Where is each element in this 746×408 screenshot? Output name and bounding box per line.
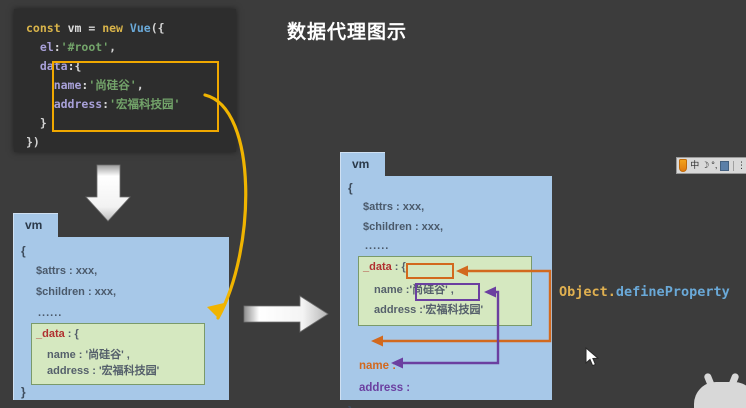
code-token: Vue: [130, 21, 151, 35]
code-line-6: }): [26, 133, 180, 152]
code-token: [26, 97, 54, 111]
code-token: '#root': [61, 40, 109, 54]
left-panel-tab-label: vm: [25, 218, 42, 232]
right-open-brace: {: [348, 181, 353, 195]
logo-watermark: [694, 382, 746, 408]
define-property-label: Object.defineProperty: [559, 284, 730, 300]
code-line-3: name:'尚硅谷',: [26, 76, 180, 95]
code-token: =: [81, 21, 102, 35]
code-token: name: [54, 78, 82, 92]
keyboard-icon[interactable]: [720, 161, 729, 171]
left-line-ellipsis: ......: [38, 307, 62, 319]
left-data-key: _data : {: [36, 328, 79, 340]
left-panel-tab[interactable]: vm: [13, 213, 58, 239]
left-data-address-entry: address : '宏福科技园': [47, 362, 159, 378]
code-token: [26, 40, 40, 54]
code-token: [26, 78, 54, 92]
left-data-key-text: _data: [36, 328, 65, 340]
code-token: address: [54, 97, 102, 111]
left-line-attrs: $attrs : xxx,: [36, 265, 97, 277]
define-property-object: Object: [559, 284, 608, 300]
code-token: ,: [137, 78, 144, 92]
code-token: el: [40, 40, 54, 54]
code-token: :: [54, 40, 61, 54]
right-data-box: _data : { name :'尚硅谷' , address :'宏福科技园': [358, 256, 532, 326]
right-data-address-label: address :: [374, 304, 423, 316]
page-title: 数据代理图示: [287, 17, 407, 44]
right-data-name-label: name :: [374, 284, 409, 296]
right-panel-tab-label: vm: [352, 157, 369, 171]
ime-toolbar[interactable]: 中 ☽ °, ⋮: [676, 157, 746, 174]
code-token: vm: [68, 21, 82, 35]
right-accessor-address: address :: [359, 382, 410, 394]
code-token: [26, 59, 40, 73]
moon-icon[interactable]: ☽: [700, 159, 710, 172]
code-token: :{: [68, 59, 82, 73]
right-line-attrs: $attrs : xxx,: [363, 201, 424, 213]
left-close-brace: }: [21, 385, 26, 399]
right-data-address-row: address :'宏福科技园': [374, 301, 483, 317]
code-token: ,: [109, 40, 116, 54]
vue-instance-code-block: const vm = new Vue({ el:'#root', data:{ …: [14, 9, 236, 152]
right-data-address-value: '宏福科技园': [423, 304, 483, 316]
code-line-1: el:'#root',: [26, 38, 180, 57]
right-accessor-name: name :: [359, 360, 396, 372]
ime-mode-icon[interactable]: 中: [689, 159, 700, 172]
define-property-method: defineProperty: [616, 284, 730, 300]
left-panel-body: { $attrs : xxx, $children : xxx, ...... …: [13, 237, 229, 400]
left-line-children: $children : xxx,: [36, 286, 116, 298]
code-line-2: data:{: [26, 57, 180, 76]
white-right-arrow: [244, 296, 328, 332]
code-token: '宏福科技园': [109, 97, 180, 111]
right-data-name-row: name :'尚硅谷' ,: [374, 281, 454, 297]
diagram-canvas: const vm = new Vue({ el:'#root', data:{ …: [0, 0, 746, 408]
right-data-name-tail: ,: [448, 284, 454, 296]
code-token: new: [102, 21, 123, 35]
ime-divider: [733, 161, 734, 171]
code-token: data: [40, 59, 68, 73]
right-line-ellipsis: ......: [365, 240, 389, 252]
right-panel-body: { $attrs : xxx, $children : xxx, ...... …: [340, 176, 552, 400]
punctuation-icon[interactable]: °,: [710, 159, 718, 172]
code-token: [61, 21, 68, 35]
code-line-4: address:'宏福科技园': [26, 95, 180, 114]
code-token: ({: [151, 21, 165, 35]
ime-menu-icon[interactable]: ⋮: [736, 159, 746, 172]
code-line-5: }: [26, 114, 180, 133]
code-token: const: [26, 21, 61, 35]
right-data-key-suffix: : {: [392, 261, 406, 273]
watermark-ear-left: [703, 372, 715, 389]
left-data-key-suffix: : {: [65, 328, 79, 340]
left-data-box: _data : { name : '尚硅谷' , address : '宏福科技…: [31, 323, 205, 385]
sogou-logo-icon[interactable]: [679, 159, 687, 172]
code-token: '尚硅谷': [88, 78, 136, 92]
right-line-children: $children : xxx,: [363, 221, 443, 233]
define-property-dot: .: [608, 284, 616, 300]
left-open-brace: {: [21, 244, 26, 258]
right-close-brace: }: [348, 404, 353, 408]
code-token: }: [26, 116, 47, 130]
code-token: }): [26, 135, 40, 149]
right-data-name-value: '尚硅谷': [409, 284, 447, 296]
code-line-0: const vm = new Vue({: [26, 19, 180, 38]
right-data-key-text: _data: [363, 261, 392, 273]
left-data-name-entry: name : '尚硅谷' ,: [47, 346, 130, 362]
right-panel-tab[interactable]: vm: [340, 152, 385, 178]
watermark-ear-right: [727, 372, 739, 389]
right-data-key: _data : {: [363, 261, 406, 273]
code-token: [123, 21, 130, 35]
mouse-pointer: [585, 347, 601, 369]
code-text: const vm = new Vue({ el:'#root', data:{ …: [26, 19, 180, 152]
white-down-arrow: [86, 165, 130, 221]
